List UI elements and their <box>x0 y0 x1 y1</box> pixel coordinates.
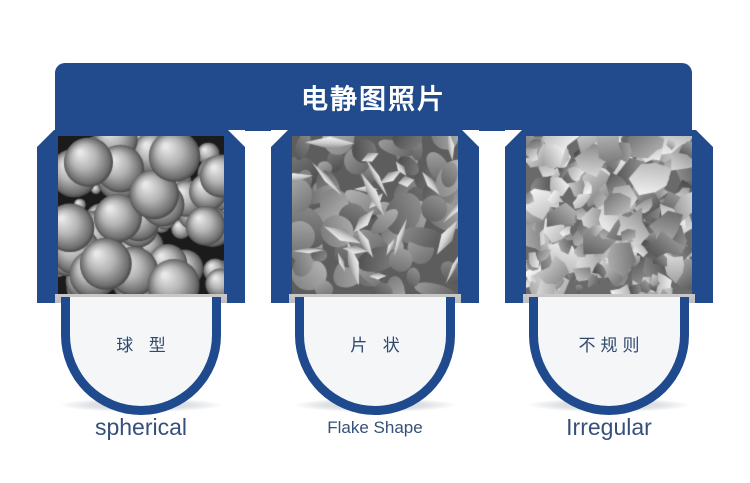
card-caption-en: spherical <box>37 414 245 441</box>
card-label-cn: 片 状 <box>304 331 446 356</box>
card-spherical[interactable]: 球 型 <box>37 130 245 370</box>
card-caption-en: Irregular <box>505 414 713 441</box>
card-flake[interactable]: 片 状 <box>271 130 479 370</box>
photo-frame <box>271 130 479 303</box>
card-caption-en: Flake Shape <box>271 418 479 438</box>
photo-frame <box>37 130 245 303</box>
sem-micrograph-spherical-powder <box>58 136 224 294</box>
page-title: 电静图照片 <box>55 78 692 117</box>
sem-micrograph-flake-powder <box>292 136 458 294</box>
header-banner: 电静图照片 <box>55 63 692 131</box>
card-irregular[interactable]: 不规则 <box>505 130 713 370</box>
label-bowl: 球 型 <box>61 297 221 415</box>
card-label-cn: 球 型 <box>70 331 212 356</box>
card-label-cn: 不规则 <box>538 331 680 356</box>
sem-micrograph-irregular-powder <box>526 136 692 294</box>
label-bowl: 片 状 <box>295 297 455 415</box>
label-bowl: 不规则 <box>529 297 689 415</box>
photo-frame <box>505 130 713 303</box>
poster-canvas: 电静图照片 球 型 片 状 <box>0 0 750 483</box>
